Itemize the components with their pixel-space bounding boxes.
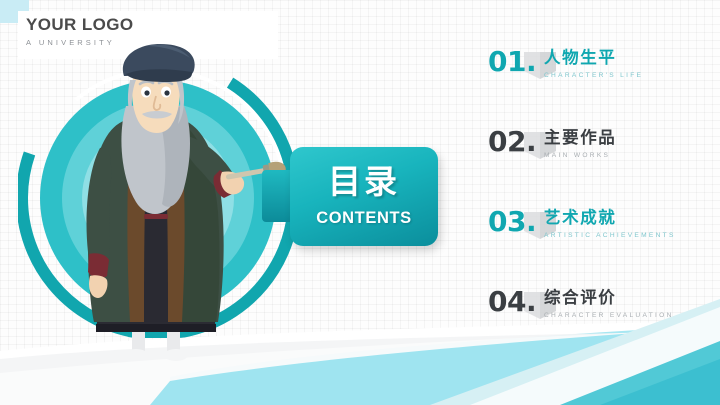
toc-title-cn: 综合评价 [544, 289, 674, 307]
toc-title-en: CHARACTER'S LIFE [544, 72, 643, 79]
toc-title-en: MAIN WORKS [544, 152, 616, 159]
toc-number: 01. [488, 48, 544, 76]
toc-title-en: CHARACTER EVALUATION [544, 312, 674, 319]
contents-banner: 目录 CONTENTS [290, 147, 438, 246]
logo-subtitle: A UNIVERSITY [26, 38, 134, 47]
contents-title-en: CONTENTS [316, 209, 412, 228]
toc-number: 02. [488, 128, 544, 156]
contents-title-cn: 目录 [328, 165, 400, 198]
toc-number: 03. [488, 208, 544, 236]
toc-list: 01. 人物生平 CHARACTER'S LIFE 02. 主要作品 MAIN … [488, 48, 710, 368]
toc-title-cn: 主要作品 [544, 129, 616, 147]
leonardo-da-vinci-illustration [56, 36, 286, 366]
toc-title-cn: 人物生平 [544, 49, 643, 67]
toc-item-02[interactable]: 02. 主要作品 MAIN WORKS [488, 128, 710, 208]
toc-title-en: ARTISTIC ACHIEVEMENTS [544, 232, 676, 239]
toc-item-01[interactable]: 01. 人物生平 CHARACTER'S LIFE [488, 48, 710, 128]
slide-canvas: YOUR LOGO A UNIVERSITY [0, 0, 720, 405]
toc-item-03[interactable]: 03. 艺术成就 ARTISTIC ACHIEVEMENTS [488, 208, 710, 288]
logo-title: YOUR LOGO [26, 16, 134, 34]
toc-title-cn: 艺术成就 [544, 209, 676, 227]
toc-item-04[interactable]: 04. 综合评价 CHARACTER EVALUATION [488, 288, 710, 368]
logo-block: YOUR LOGO A UNIVERSITY [26, 16, 134, 47]
toc-number: 04. [488, 288, 544, 316]
